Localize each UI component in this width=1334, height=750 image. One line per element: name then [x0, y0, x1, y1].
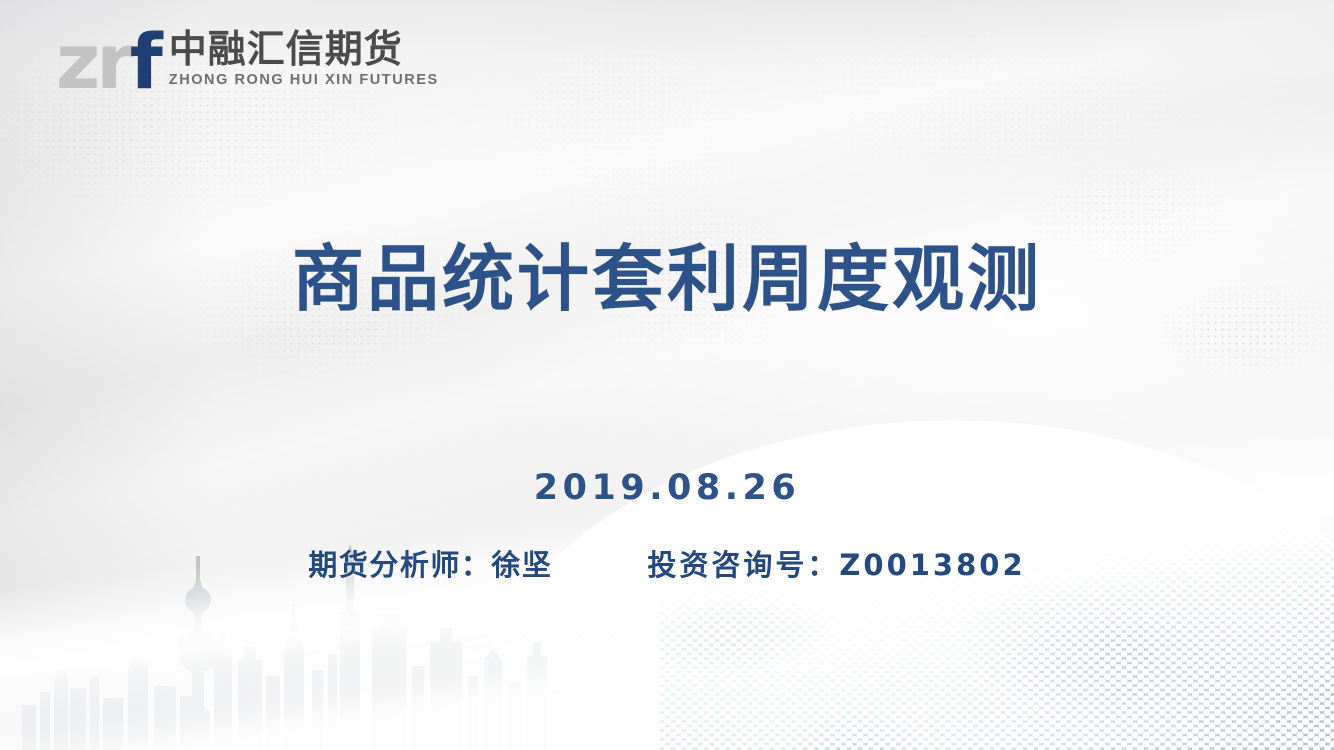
license-number: 投资咨询号：Z0013802 — [647, 551, 1025, 580]
slide-title: 商品统计套利周度观测 — [0, 243, 1334, 315]
logo-wordmark: 中融汇信期货 ZHONG RONG HUI XIN FUTURES — [169, 30, 439, 92]
company-name-en: ZHONG RONG HUI XIN FUTURES — [169, 72, 439, 88]
company-name-cn: 中融汇信期货 — [169, 30, 439, 69]
title-slide: zrf 中融汇信期货 ZHONG RONG HUI XIN FUTURES 商品… — [0, 0, 1334, 750]
company-logo: zrf 中融汇信期货 ZHONG RONG HUI XIN FUTURES — [56, 30, 439, 92]
logo-mark-f: f — [130, 17, 159, 106]
byline: 期货分析师：徐坚 投资咨询号：Z0013802 — [0, 551, 1334, 580]
slide-date: 2019.08.26 — [0, 471, 1334, 506]
logo-mark-icon: zrf — [56, 32, 159, 91]
logo-mark-zr: zr — [56, 17, 130, 106]
analyst-name: 期货分析师：徐坚 — [308, 551, 552, 580]
